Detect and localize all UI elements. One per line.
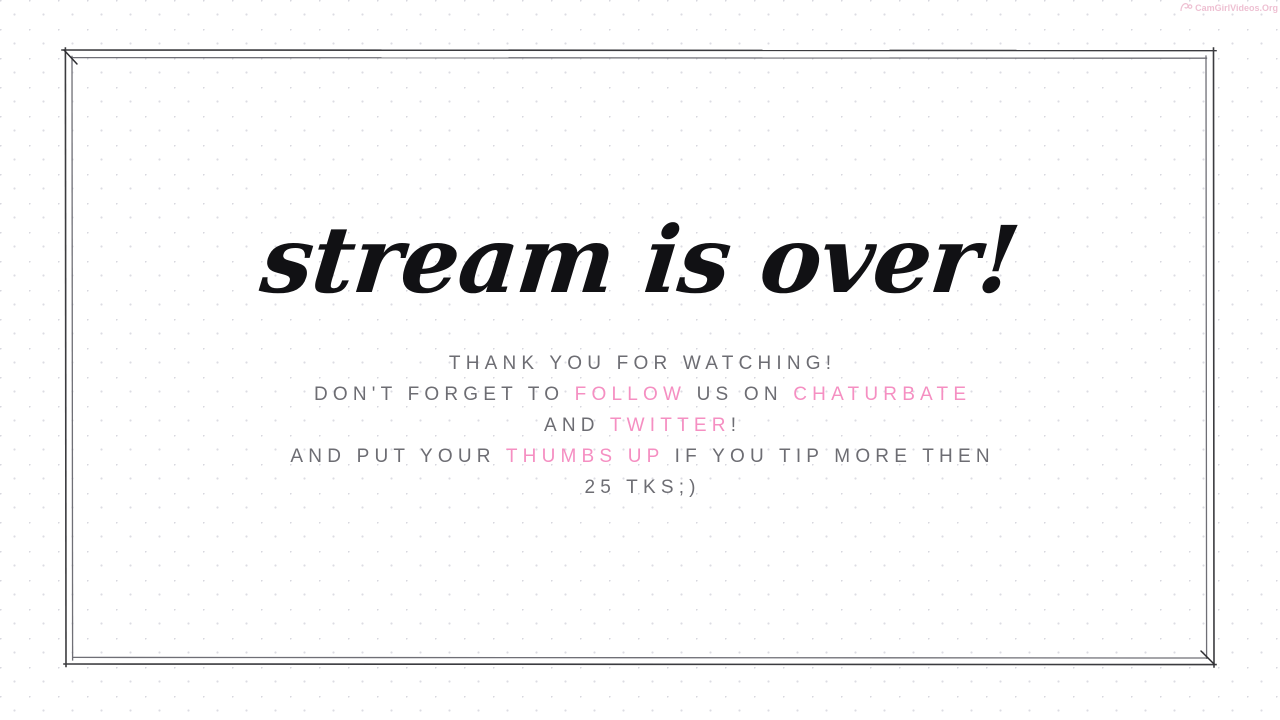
segment-text: ! (731, 415, 741, 436)
twitter-link[interactable]: TWITTER (610, 415, 731, 436)
thumbs-up-link[interactable]: THUMBS UP (506, 446, 664, 467)
message-line-thank-you: THANK YOU FOR WATCHING! (0, 348, 1280, 379)
watermark: CamGirlVideos.Org (1180, 2, 1278, 13)
chaturbate-link[interactable]: CHATURBATE (793, 384, 971, 405)
message-line-tks: 25 TKS;) (0, 472, 1280, 503)
segment-text: AND PUT YOUR (290, 446, 505, 467)
camgirlvideos-logo-icon (1180, 2, 1193, 13)
follow-link[interactable]: FOLLOW (575, 384, 686, 405)
message-line-twitter: AND TWITTER! (0, 410, 1280, 441)
watermark-text: CamGirlVideos.Org (1195, 3, 1278, 13)
message-line-thumbs-up: AND PUT YOUR THUMBS UP IF YOU TIP MORE T… (0, 441, 1280, 472)
stream-over-card: stream is over! THANK YOU FOR WATCHING! … (0, 0, 1280, 720)
segment-text: AND (544, 415, 610, 436)
message-line-follow: DON'T FORGET TO FOLLOW US ON CHATURBATE (0, 379, 1280, 410)
segment-text: THANK YOU FOR WATCHING! (449, 353, 836, 374)
message-block: THANK YOU FOR WATCHING! DON'T FORGET TO … (0, 348, 1280, 503)
segment-text: US ON (686, 384, 793, 405)
segment-text: IF YOU TIP MORE THEN (664, 446, 995, 467)
page-title: stream is over! (0, 214, 1280, 306)
segment-text: DON'T FORGET TO (314, 384, 575, 405)
segment-text: 25 TKS;) (584, 477, 700, 498)
